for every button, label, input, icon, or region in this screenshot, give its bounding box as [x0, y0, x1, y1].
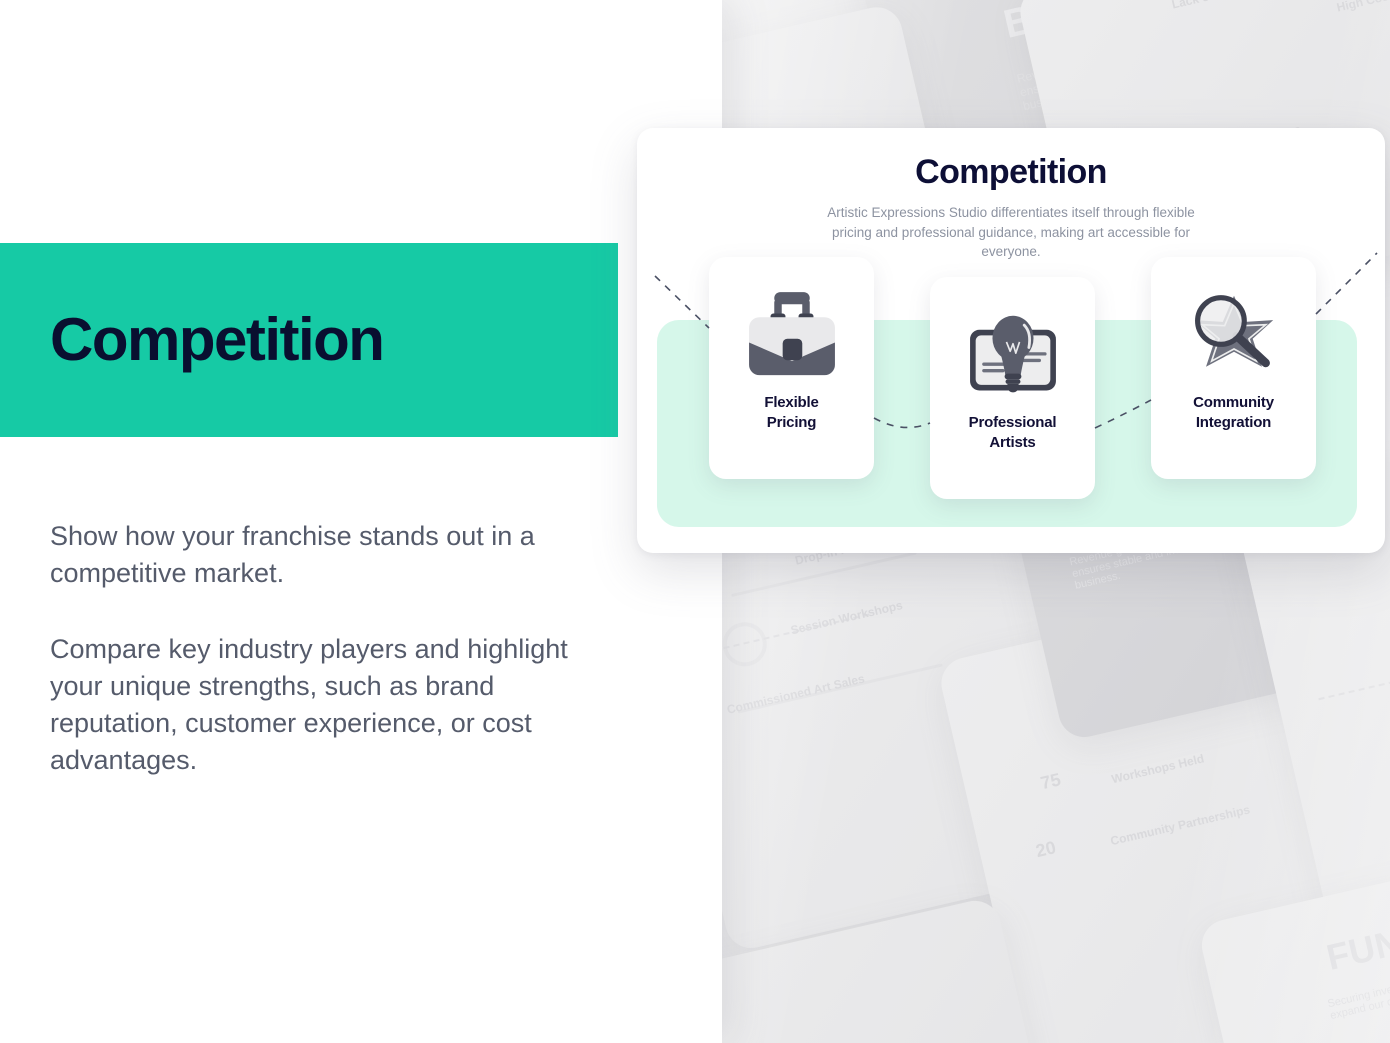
- ghost-slide-body: Securing investment to scale our operati…: [1326, 945, 1390, 1022]
- ghost-slide-title: BUSINESS MODEL: [1000, 0, 1368, 48]
- slide-preview-card[interactable]: Competition Artistic Expressions Studio …: [637, 128, 1385, 553]
- ghost-slide: 1,000 Monthly Visitors 75 Workshops Held…: [936, 547, 1390, 1043]
- connector-lines: [637, 128, 1385, 553]
- ghost-stat: 75: [1039, 769, 1063, 794]
- ghost-slide-title: FUNDRAISING: [1323, 880, 1390, 978]
- ghost-label: High Cost: [1335, 0, 1390, 15]
- ghost-label: Commissioned Art Sales: [726, 671, 866, 716]
- ghost-label: Session Workshops: [789, 598, 904, 637]
- ghost-label: Lack of Accessibility: [1170, 0, 1288, 12]
- description-paragraph-1: Show how your franchise stands out in a …: [50, 518, 625, 593]
- ghost-stat: 20: [1034, 837, 1058, 862]
- ghost-label: Workshops Held: [1110, 751, 1205, 786]
- ghost-slide-body: Revenue generation through diverse strea…: [1015, 16, 1268, 113]
- ghost-slide: FUNDRAISING Securing investment to scale…: [1197, 822, 1390, 1043]
- page-title: Competition: [50, 310, 383, 370]
- ghost-label: Community Partnerships: [1109, 802, 1251, 848]
- ghost-stat: 1,000: [1069, 694, 1123, 728]
- description-paragraph-2: Compare key industry players and highlig…: [50, 631, 625, 780]
- section-banner: Competition: [0, 243, 618, 437]
- slide-page: Drop-In Fees BUSINESS MODEL Revenue gene…: [0, 0, 1390, 1043]
- section-description: Show how your franchise stands out in a …: [50, 518, 625, 780]
- ghost-label: Monthly Visitors: [1165, 678, 1259, 713]
- ghost-slide: [718, 507, 990, 1043]
- ghost-slide: [718, 896, 1068, 1043]
